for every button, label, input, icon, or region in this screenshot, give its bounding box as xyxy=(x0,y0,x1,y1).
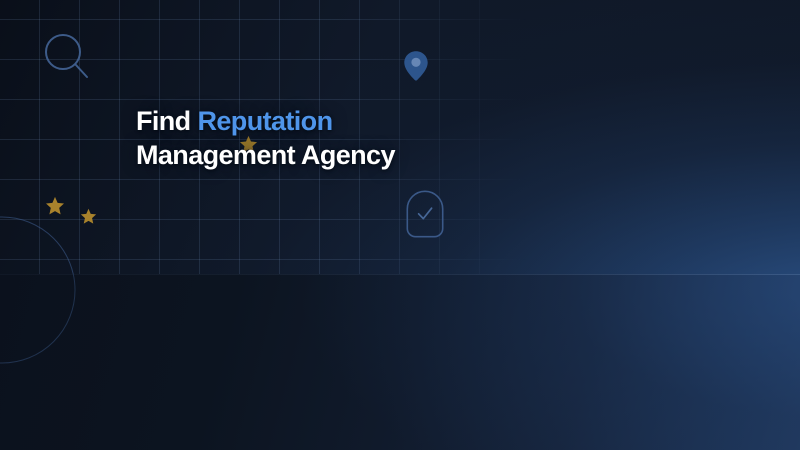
hero-lower-band xyxy=(0,274,800,450)
star-icon xyxy=(45,196,65,216)
page-title-line-1: Find Reputation xyxy=(136,108,556,135)
page-title-lead: Find xyxy=(136,106,197,136)
hero-banner: Find Reputation Management Agency xyxy=(0,0,800,450)
circle-outline-decoration xyxy=(0,216,76,274)
circle-outline-decoration-continuation xyxy=(0,274,76,364)
hero-upper-band: Find Reputation Management Agency xyxy=(0,0,800,274)
verified-badge-icon xyxy=(406,190,444,238)
search-icon xyxy=(44,33,90,81)
page-title: Find Reputation Management Agency xyxy=(136,108,556,169)
page-title-accent: Reputation xyxy=(197,106,332,136)
page-title-line-2: Management Agency xyxy=(136,142,556,169)
lower-band-glow xyxy=(0,274,800,450)
map-pin-icon xyxy=(403,50,429,82)
star-icon xyxy=(80,208,97,225)
band-divider xyxy=(0,274,800,275)
